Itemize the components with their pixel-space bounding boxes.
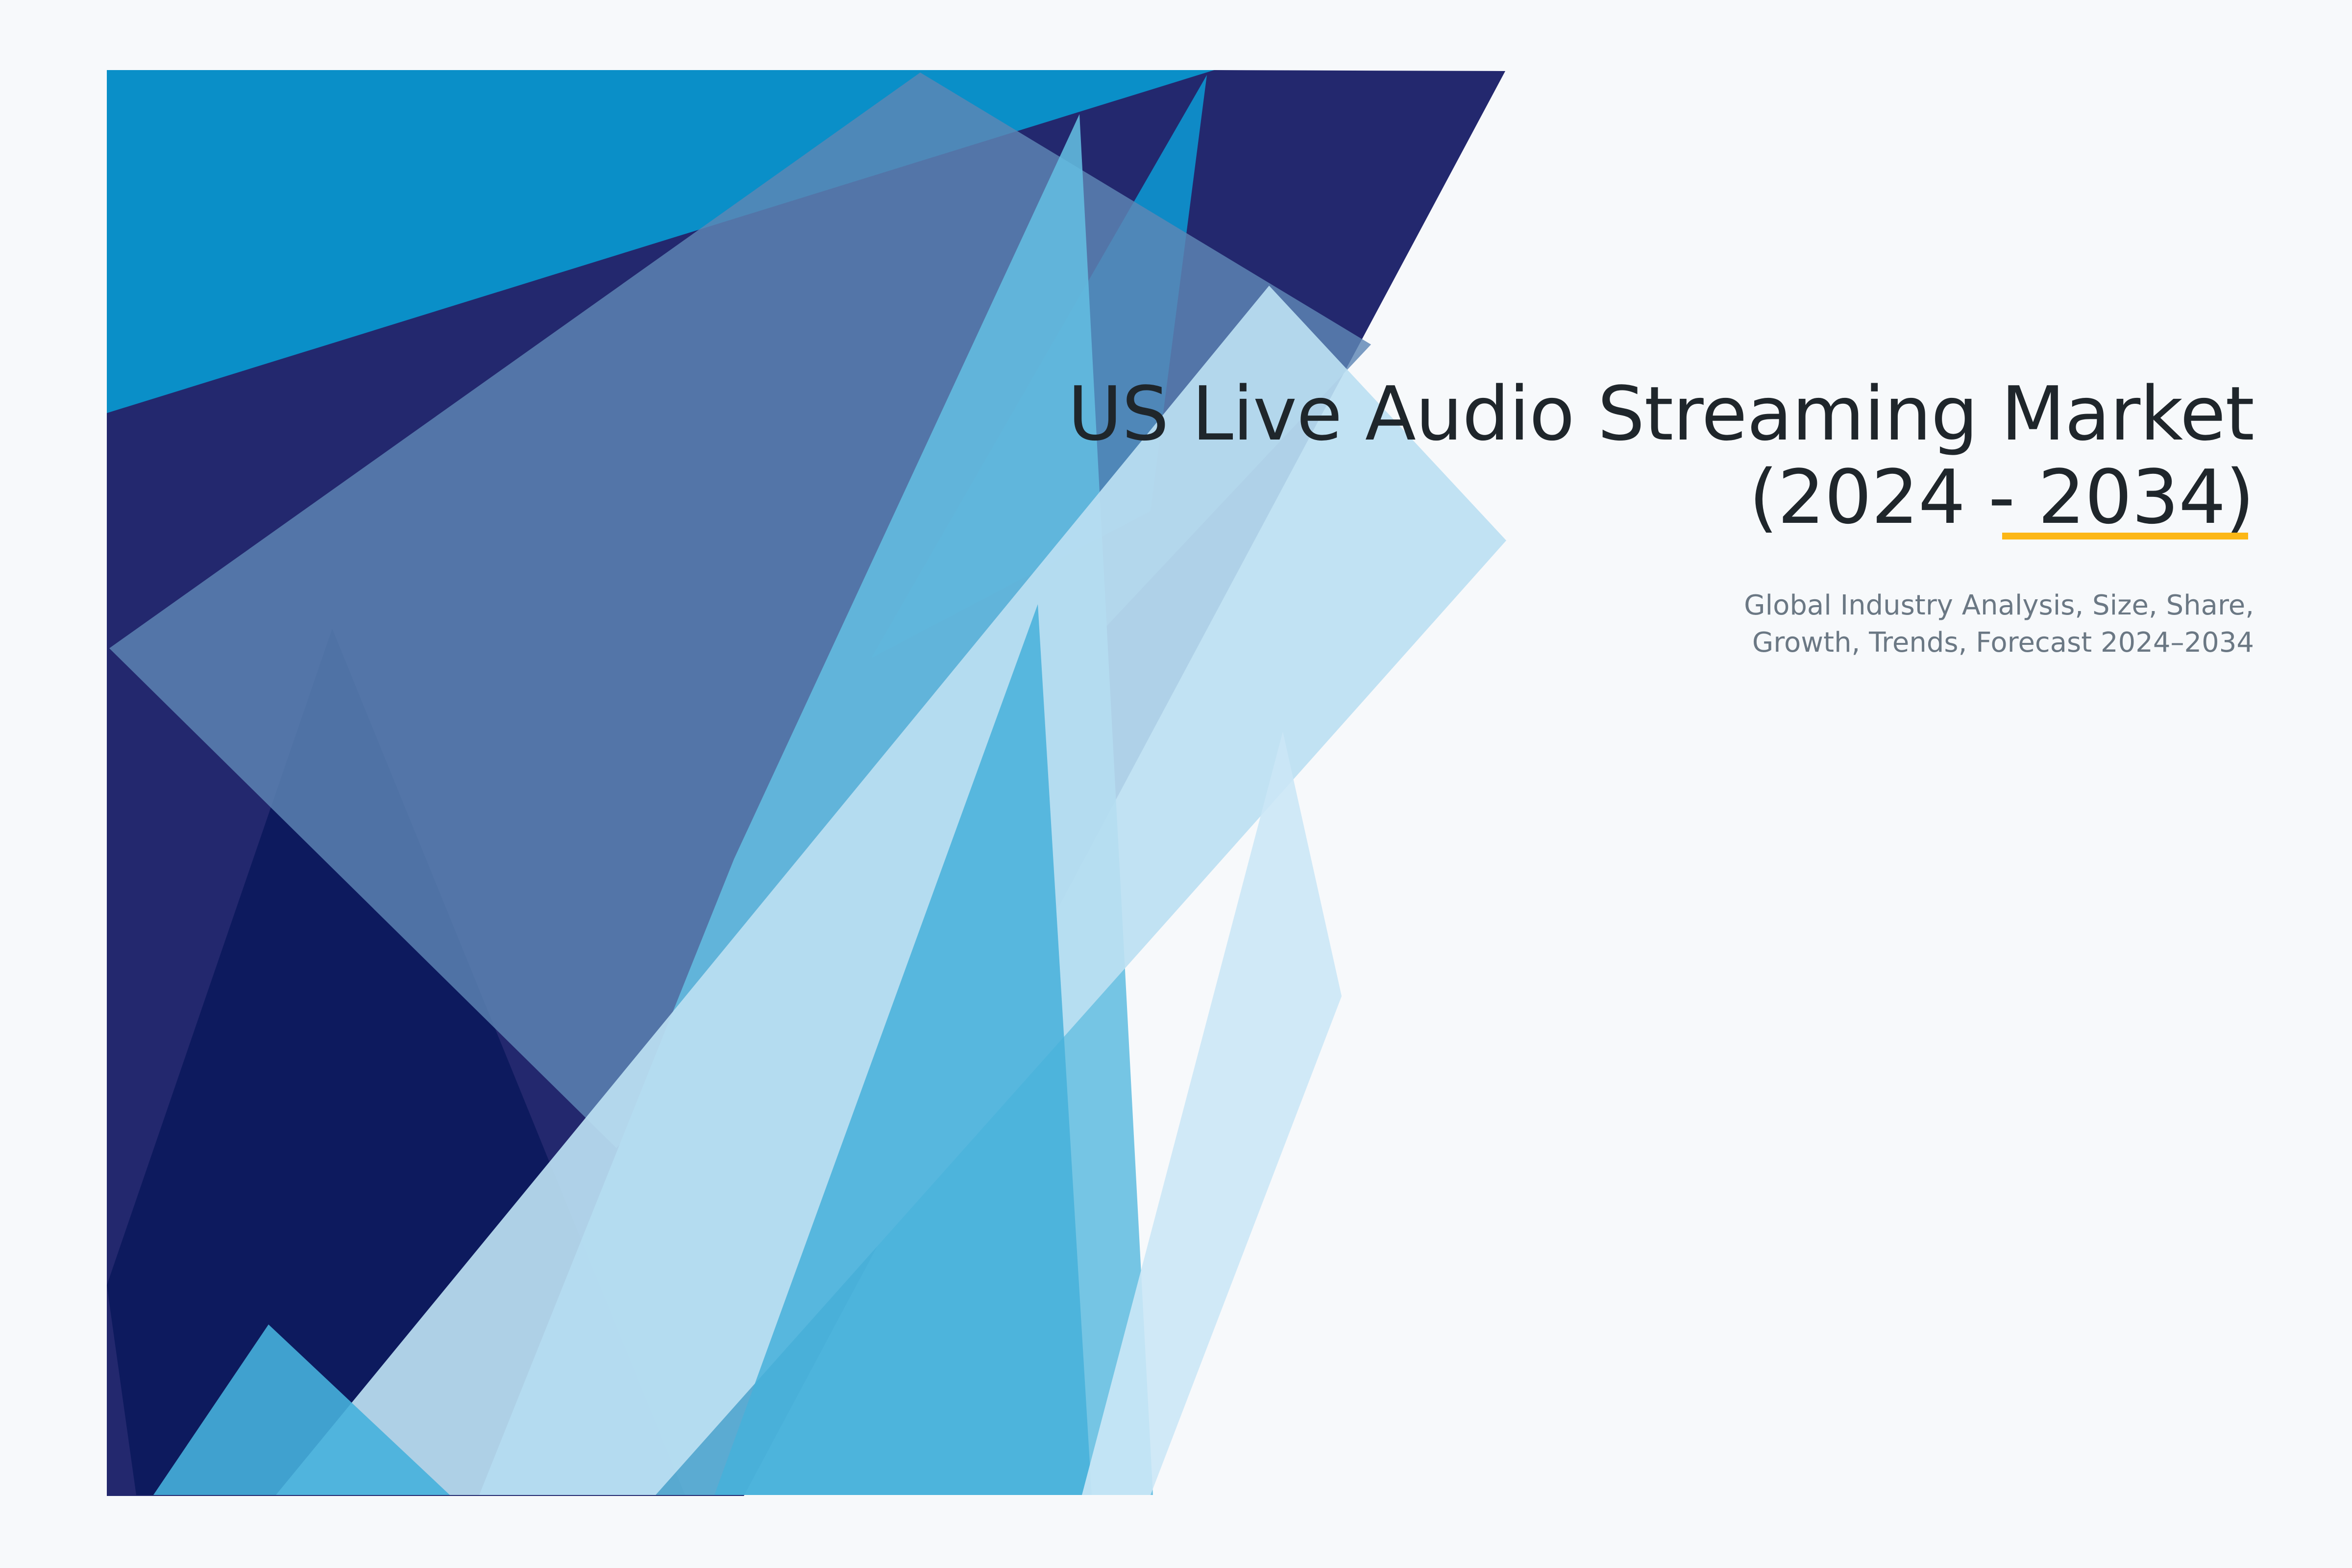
page-title-line-1: US Live Audio Streaming Market — [1004, 372, 2254, 456]
abstract-geometric-artwork — [107, 70, 1506, 1496]
title-accent-underline — [2002, 533, 2248, 539]
page-subtitle-line-2: Growth, Trends, Forecast 2024–2034 — [1004, 624, 2254, 661]
page-title-line-2: (2024 - 2034) — [1004, 456, 2254, 539]
report-cover-page: US Live Audio Streaming Market (2024 - 2… — [0, 0, 2352, 1568]
page-title: US Live Audio Streaming Market (2024 - 2… — [1004, 372, 2254, 539]
page-subtitle-line-1: Global Industry Analysis, Size, Share, — [1004, 587, 2254, 624]
cover-text-block: US Live Audio Streaming Market (2024 - 2… — [1004, 372, 2254, 661]
page-subtitle: Global Industry Analysis, Size, Share, G… — [1004, 539, 2254, 661]
artwork-svg — [107, 70, 1506, 1496]
